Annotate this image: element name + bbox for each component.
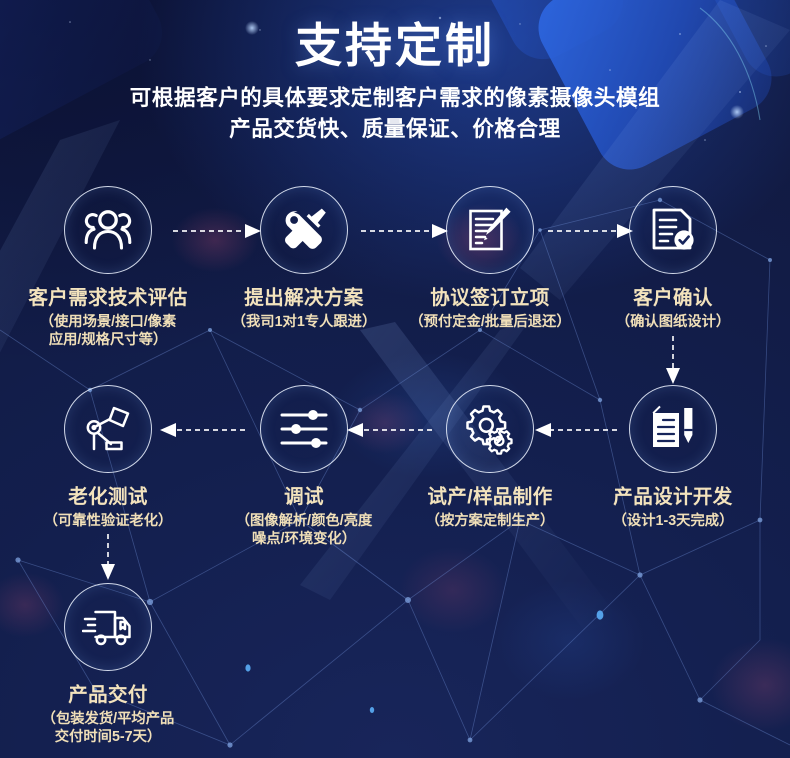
flow-step-2[interactable]: 提出解决方案 （我司1对1专人跟进） xyxy=(204,186,404,331)
glow-accent xyxy=(690,620,790,750)
banner-header: 支持定制 可根据客户的具体要求定制客户需求的像素摄像头模组 产品交货快、质量保证… xyxy=(0,0,790,144)
document-pen-icon xyxy=(465,205,515,255)
flow-step-6-sub-line1: （按方案定制生产） xyxy=(390,512,590,530)
subtitle-line-1: 可根据客户的具体要求定制客户需求的像素摄像头模组 xyxy=(0,69,790,114)
sliders-icon xyxy=(279,409,329,449)
wrench-screwdriver-icon xyxy=(280,206,328,254)
flow-step-7-sub: （图像解析/颜色/亮度 噪点/环境变化） xyxy=(204,512,404,549)
flow-step-5-title: 产品设计开发 xyxy=(573,486,773,509)
flow-step-1-sub: （使用场景/接口/像素 应用/规格尺寸等） xyxy=(8,313,208,350)
gears-icon xyxy=(464,403,516,455)
flow-step-1-sub-line2: 应用/规格尺寸等） xyxy=(8,331,208,349)
document-design-pen-icon xyxy=(649,405,697,453)
flow-step-8-circle[interactable] xyxy=(64,385,152,473)
flow-step-4-sub-line1: （确认图纸设计） xyxy=(573,313,773,331)
flow-step-8-sub-line1: （可靠性验证老化） xyxy=(8,512,208,530)
promo-banner: 支持定制 可根据客户的具体要求定制客户需求的像素摄像头模组 产品交货快、质量保证… xyxy=(0,0,790,758)
flow-step-2-sub: （我司1对1专人跟进） xyxy=(204,313,404,331)
flow-step-9-circle[interactable] xyxy=(64,583,152,671)
flow-step-1-sub-line1: （使用场景/接口/像素 xyxy=(8,313,208,331)
flow-step-7[interactable]: 调试 （图像解析/颜色/亮度 噪点/环境变化） xyxy=(204,385,404,549)
glow-accent xyxy=(470,560,670,720)
flow-step-8[interactable]: 老化测试 （可靠性验证老化） xyxy=(8,385,208,530)
page-title: 支持定制 xyxy=(0,0,790,69)
flow-step-9-sub-line2: 交付时间5-7天） xyxy=(8,728,208,746)
connector-8-9-arrowhead xyxy=(101,564,115,580)
flow-step-2-circle[interactable] xyxy=(260,186,348,274)
flow-step-4-sub: （确认图纸设计） xyxy=(573,313,773,331)
users-group-icon xyxy=(83,207,133,253)
flow-step-3-sub-line1: （预付定金/批量后退还） xyxy=(390,313,590,331)
subtitle-line-2: 产品交货快、质量保证、价格合理 xyxy=(0,114,790,145)
flow-step-7-circle[interactable] xyxy=(260,385,348,473)
flow-step-6[interactable]: 试产/样品制作 （按方案定制生产） xyxy=(390,385,590,530)
flow-step-3[interactable]: 协议签订立项 （预付定金/批量后退还） xyxy=(390,186,590,331)
flow-step-5-sub: （设计1-3天完成） xyxy=(573,512,773,530)
flow-step-5-sub-line1: （设计1-3天完成） xyxy=(573,512,773,530)
flow-step-6-circle[interactable] xyxy=(446,385,534,473)
document-check-icon xyxy=(650,206,696,254)
flow-step-9[interactable]: 产品交付 （包装发货/平均产品 交付时间5-7天） xyxy=(8,583,208,747)
flow-step-5-circle[interactable] xyxy=(629,385,717,473)
flow-step-2-title: 提出解决方案 xyxy=(204,287,404,310)
robot-arm-icon xyxy=(83,404,133,454)
flow-step-5[interactable]: 产品设计开发 （设计1-3天完成） xyxy=(573,385,773,530)
flow-step-8-sub: （可靠性验证老化） xyxy=(8,512,208,530)
flow-step-9-sub-line1: （包装发货/平均产品 xyxy=(8,710,208,728)
flow-step-3-circle[interactable] xyxy=(446,186,534,274)
flow-step-3-sub: （预付定金/批量后退还） xyxy=(390,313,590,331)
flow-step-3-title: 协议签订立项 xyxy=(390,287,590,310)
flow-step-2-sub-line1: （我司1对1专人跟进） xyxy=(204,313,404,331)
flow-step-1[interactable]: 客户需求技术评估 （使用场景/接口/像素 应用/规格尺寸等） xyxy=(8,186,208,350)
connector-4-5-arrowhead xyxy=(666,368,680,384)
flow-step-7-title: 调试 xyxy=(204,486,404,509)
flow-step-6-sub: （按方案定制生产） xyxy=(390,512,590,530)
flow-step-7-sub-line2: 噪点/环境变化） xyxy=(204,530,404,548)
flow-step-7-sub-line1: （图像解析/颜色/亮度 xyxy=(204,512,404,530)
delivery-truck-icon xyxy=(82,607,134,647)
flow-step-4-circle[interactable] xyxy=(629,186,717,274)
flow-step-4[interactable]: 客户确认 （确认图纸设计） xyxy=(573,186,773,331)
flow-step-4-title: 客户确认 xyxy=(573,287,773,310)
flow-step-1-circle[interactable] xyxy=(64,186,152,274)
flow-step-6-title: 试产/样品制作 xyxy=(390,486,590,509)
flow-step-9-title: 产品交付 xyxy=(8,684,208,707)
flow-step-9-sub: （包装发货/平均产品 交付时间5-7天） xyxy=(8,710,208,747)
flow-step-1-title: 客户需求技术评估 xyxy=(8,287,208,310)
flow-step-8-title: 老化测试 xyxy=(8,486,208,509)
